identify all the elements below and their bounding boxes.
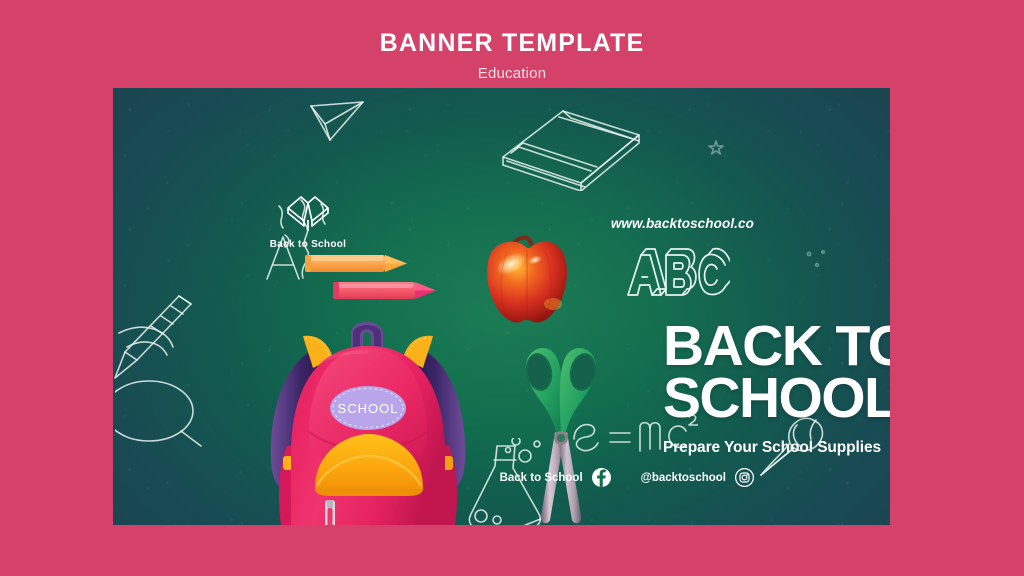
scissors-illustration bbox=[511, 340, 611, 525]
magnifier-doodle-icon bbox=[115, 303, 207, 448]
website-url[interactable]: www.backtoschool.co bbox=[611, 216, 754, 231]
social-facebook-label: Back to School bbox=[500, 472, 583, 484]
headline-line-1: BACK TO bbox=[663, 320, 890, 372]
page-subtitle: Education bbox=[0, 65, 1024, 82]
headline-line-2: SCHOOL bbox=[663, 372, 890, 424]
abc-chalk-text bbox=[626, 245, 730, 308]
backpack-illustration: SCHOOL bbox=[255, 314, 505, 525]
social-block: Back to School @backtoschool bbox=[500, 468, 754, 487]
eraser-doodle-icon bbox=[113, 266, 199, 386]
logo-label: Back to School bbox=[253, 239, 363, 250]
page-header: BANNER TEMPLATE Education bbox=[0, 30, 1024, 82]
crayons-illustration bbox=[303, 251, 437, 316]
page-title: BANNER TEMPLATE bbox=[0, 30, 1024, 58]
star-doodle-icon bbox=[708, 140, 724, 156]
facebook-icon[interactable] bbox=[592, 468, 611, 487]
banner-canvas: Back to School www.backtoschool.co bbox=[113, 88, 890, 525]
social-instagram-label: @backtoschool bbox=[641, 472, 726, 484]
book-doodle-icon bbox=[493, 105, 645, 191]
headline-block: BACK TO SCHOOL Prepare Your School Suppl… bbox=[663, 320, 890, 457]
dot-doodle-icon bbox=[803, 248, 833, 272]
social-instagram[interactable]: @backtoschool bbox=[641, 468, 754, 487]
headline-tagline: Prepare Your School Supplies bbox=[663, 439, 890, 457]
instagram-icon[interactable] bbox=[735, 468, 754, 487]
brand-logo[interactable]: Back to School bbox=[253, 196, 363, 250]
svg-text:SCHOOL: SCHOOL bbox=[338, 401, 399, 416]
social-facebook[interactable]: Back to School bbox=[500, 468, 611, 487]
book-heart-logo-icon bbox=[253, 196, 363, 232]
paper-plane-doodle-icon bbox=[308, 100, 368, 144]
